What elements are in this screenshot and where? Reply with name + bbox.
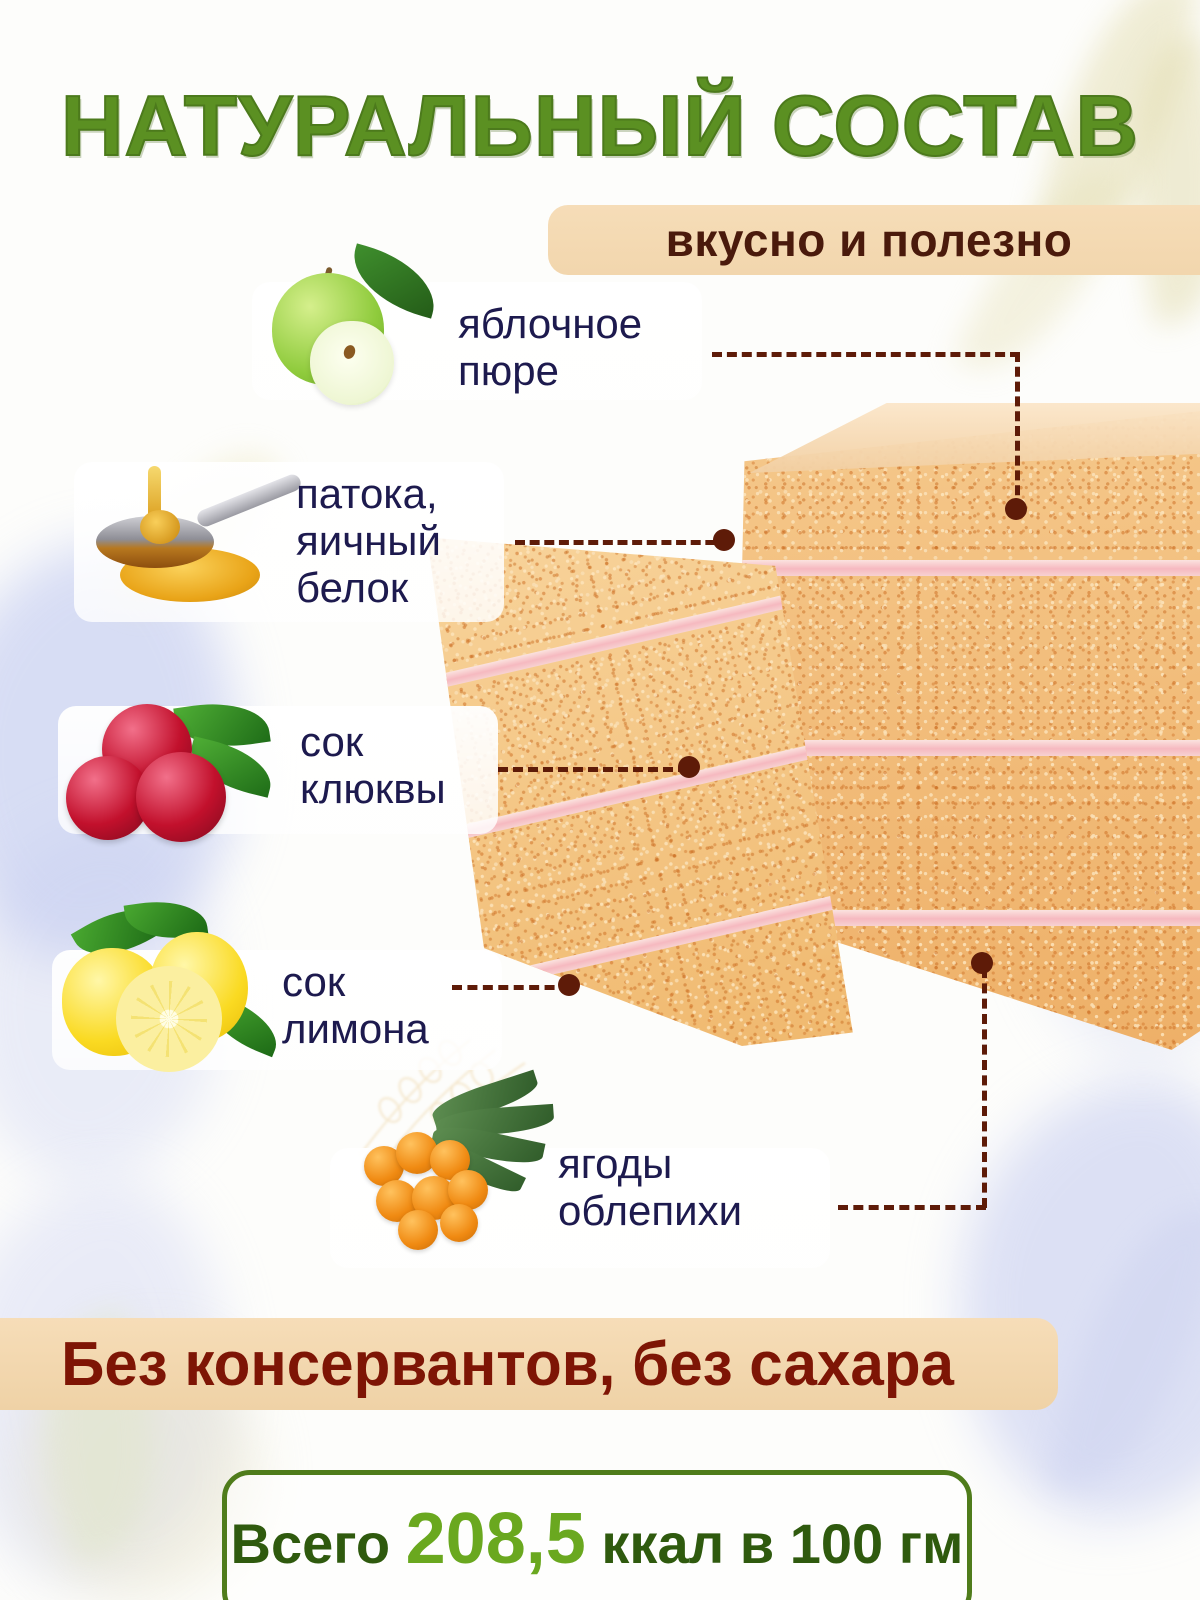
calories-prefix: Всего <box>231 1512 391 1575</box>
honey-spoon-icon <box>82 462 312 622</box>
calories-box: Всего 208,5 ккал в 100 гм <box>222 1470 972 1600</box>
subtitle-banner: вкусно и полезно <box>548 205 1200 275</box>
ingredient-label-lemon: сок лимона <box>282 958 429 1052</box>
no-preservatives-text: Без консервантов, без сахара <box>15 1329 954 1400</box>
ingredient-label-molasses: патока, яичный белок <box>296 470 441 611</box>
ingredient-label-cranberry: сок клюквы <box>300 718 446 812</box>
calories-value: 208,5 <box>406 1499 586 1579</box>
sea-buckthorn-icon <box>352 1080 572 1250</box>
calories-suffix: ккал в 100 гм <box>601 1512 963 1575</box>
green-apple-icon <box>262 245 452 415</box>
ingredient-label-seabuckthorn: ягоды облепихи <box>558 1140 742 1234</box>
page-title: НАТУРАЛЬНЫЙ СОСТАВ <box>0 78 1200 176</box>
calories-text: Всего 208,5 ккал в 100 гм <box>231 1498 964 1580</box>
lemon-icon <box>54 896 284 1076</box>
ingredient-label-apple: яблочное пюре <box>458 300 642 394</box>
infographic-poster: НАТУРАЛЬНЫЙ СОСТАВ вкусно и полезно ябло… <box>0 0 1200 1600</box>
no-preservatives-banner: Без консервантов, без сахара <box>0 1318 1058 1410</box>
cranberry-icon <box>60 690 280 850</box>
subtitle-text: вкусно и полезно <box>666 213 1091 267</box>
cake-product-image <box>430 395 1200 1125</box>
